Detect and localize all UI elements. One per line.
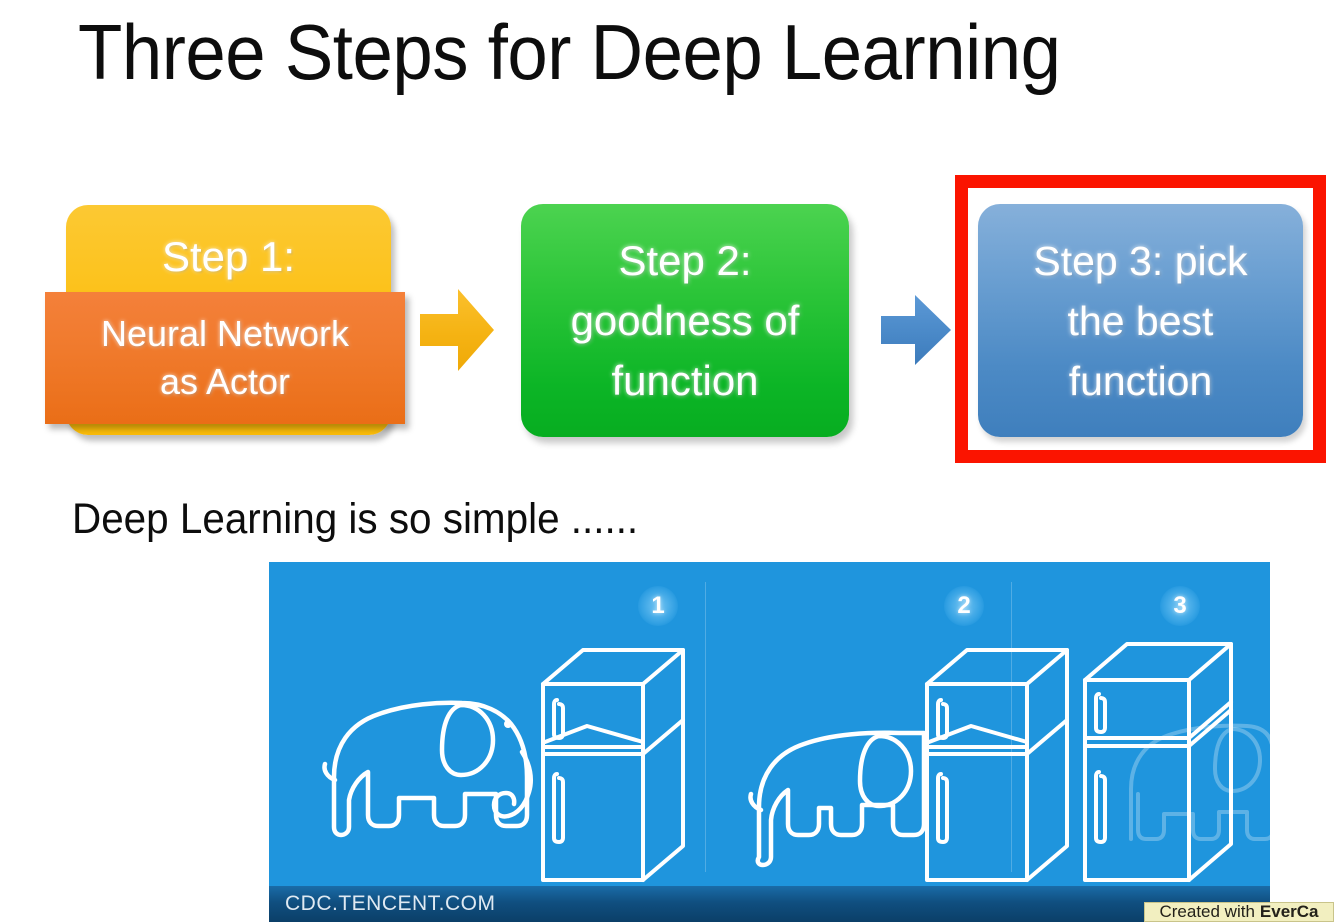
- step-3-line-2: the best: [1068, 298, 1214, 344]
- panel-number-badge-2: 2: [944, 586, 984, 626]
- elephant-fridge-illustration: 1 2 3: [269, 562, 1270, 922]
- step-1-overlay-line-2: as Actor: [160, 358, 290, 406]
- three-steps-flow: Step 1: Neural Network as Actor Step 2: …: [0, 0, 1334, 480]
- arrow-right-icon-2: [879, 292, 955, 373]
- step-2-line-3: function: [611, 357, 758, 404]
- step-1-overlay-box[interactable]: Neural Network as Actor: [45, 292, 405, 424]
- panel-1-refrigerator: [527, 642, 707, 902]
- step-1-label: Step 1:: [66, 231, 391, 283]
- source-watermark-text: CDC.TENCENT.COM: [285, 892, 496, 916]
- evercam-brand: EverCa: [1260, 902, 1319, 922]
- step-3-label: Step 3: pick the best function: [1033, 231, 1247, 411]
- step-2-label: Step 2: goodness of function: [571, 231, 800, 411]
- evercam-prefix: Created with: [1159, 902, 1254, 922]
- step-1-overlay-line-1: Neural Network: [101, 310, 349, 358]
- arrow-right-icon-1: [418, 286, 496, 379]
- step-3-line-1: Step 3: pick: [1033, 238, 1247, 284]
- step-3-box[interactable]: Step 3: pick the best function: [978, 204, 1303, 437]
- step-2-line-1: Step 2:: [618, 237, 751, 284]
- step-3-line-3: function: [1069, 358, 1213, 404]
- step-2-line-2: goodness of: [571, 297, 800, 344]
- panel-3-refrigerator: [1069, 634, 1270, 904]
- source-watermark-bar: CDC.TENCENT.COM: [269, 886, 1270, 922]
- slide-caption: Deep Learning is so simple ......: [72, 489, 638, 549]
- panel-number-badge-3: 3: [1160, 586, 1200, 626]
- step-2-box[interactable]: Step 2: goodness of function: [521, 204, 849, 437]
- evercam-watermark: Created with EverCa: [1144, 902, 1334, 922]
- panel-2-refrigerator: [911, 642, 1091, 902]
